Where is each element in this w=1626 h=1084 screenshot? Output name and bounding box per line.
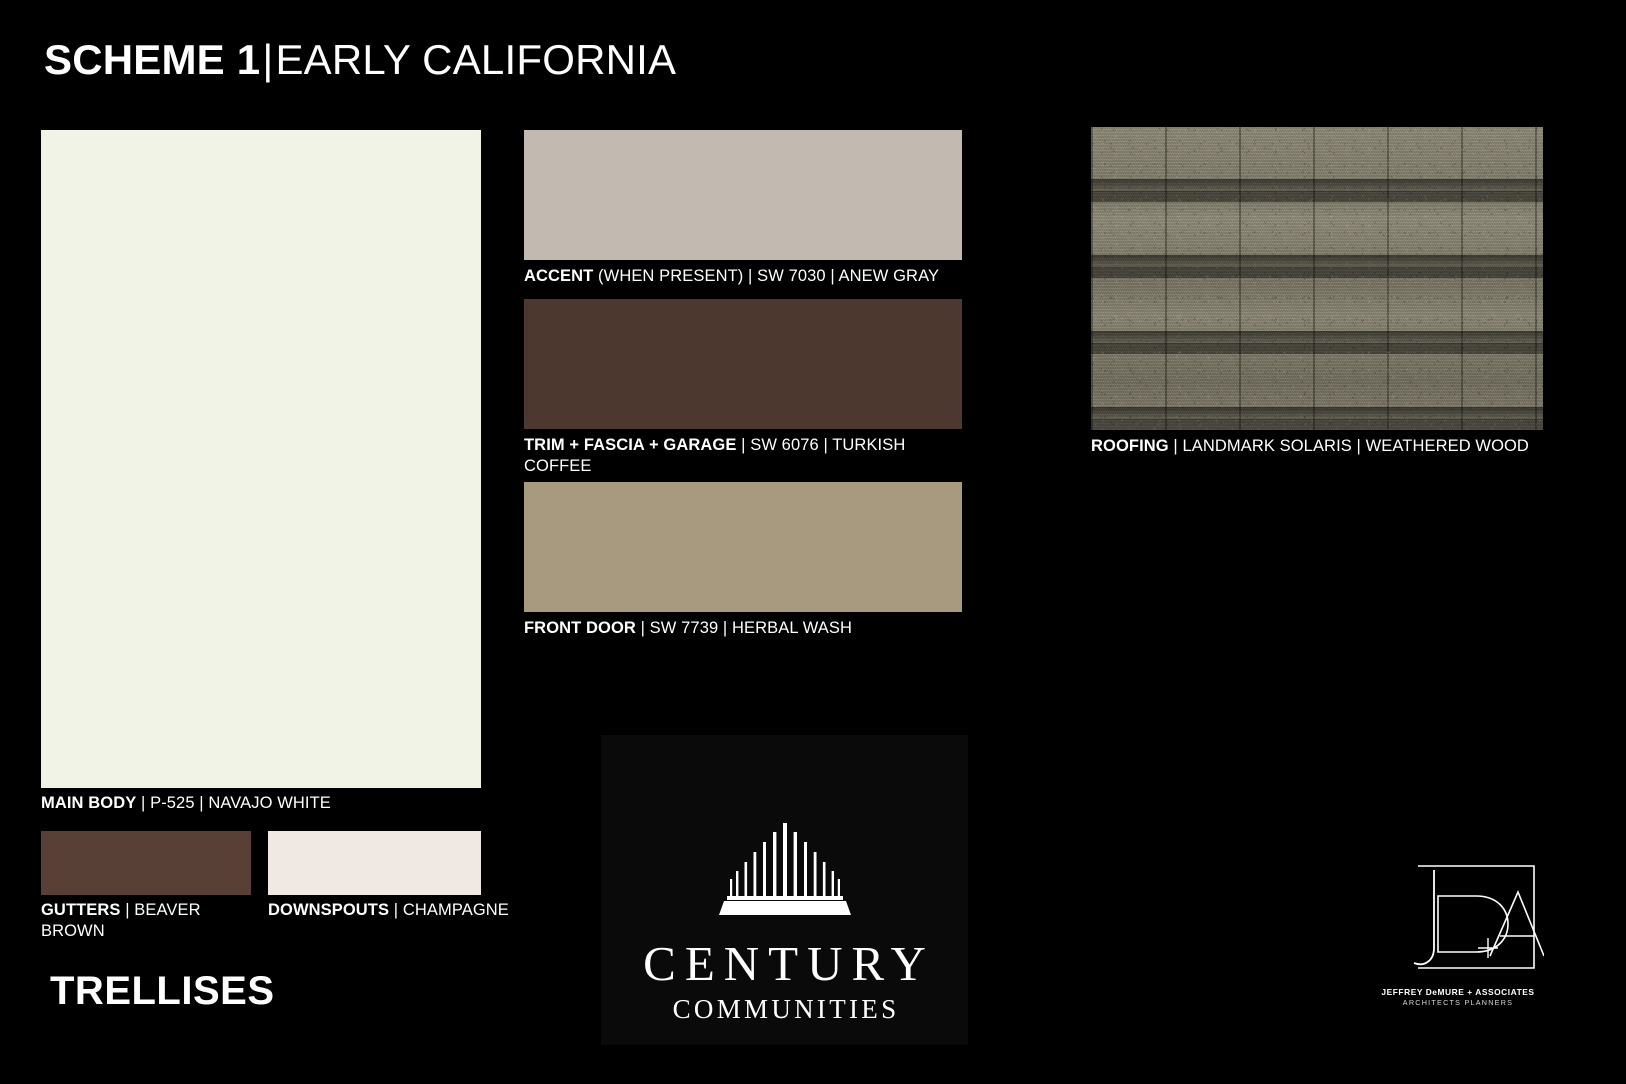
swatch-front-door: FRONT DOOR | SW 7739 | HERBAL WASH xyxy=(524,482,962,639)
roof-granule-texture xyxy=(1091,127,1543,430)
page-title-scheme: SCHEME 1 xyxy=(44,36,260,83)
swatch-chip-accent xyxy=(524,130,962,260)
swatch-trim: TRIM + FASCIA + GARAGE | SW 6076 | TURKI… xyxy=(524,299,962,477)
roof-shadow-band xyxy=(1091,331,1543,344)
swatch-chip-gutters xyxy=(41,831,251,895)
swatch-label-main-body-title: MAIN BODY xyxy=(41,794,136,812)
century-subtitle: COMMUNITIES xyxy=(670,994,900,1024)
swatch-label-roofing-title: ROOFING xyxy=(1091,437,1169,455)
swatch-chip-front-door xyxy=(524,482,962,612)
swatch-label-downspouts-title: DOWNSPOUTS xyxy=(268,901,389,919)
roof-shadow-band xyxy=(1091,407,1543,420)
swatch-label-accent: ACCENT (WHEN PRESENT) | SW 7030 | ANEW G… xyxy=(524,266,962,287)
swatch-label-main-body-detail: | P-525 | NAVAJO WHITE xyxy=(141,794,331,812)
swatch-label-gutters-title: GUTTERS xyxy=(41,901,121,919)
roof-shadow-band xyxy=(1091,179,1543,192)
swatch-roofing: ROOFING | LANDMARK SOLARIS | WEATHERED W… xyxy=(1091,127,1543,457)
swatch-label-front-door: FRONT DOOR | SW 7739 | HERBAL WASH xyxy=(524,618,962,639)
swatch-label-downspouts: DOWNSPOUTS | CHAMPAGNE xyxy=(268,900,481,921)
swatch-chip-trim xyxy=(524,299,962,429)
swatch-label-gutters: GUTTERS | BEAVER BROWN xyxy=(41,900,226,942)
jda-monogram-icon xyxy=(1372,856,1544,984)
century-pediment-icon xyxy=(700,820,870,916)
jda-firm-name: JEFFREY DeMURE + ASSOCIATES xyxy=(1372,987,1544,998)
swatch-label-main-body: MAIN BODY | P-525 | NAVAJO WHITE xyxy=(41,793,481,814)
century-wordmark: CENTURY xyxy=(634,938,935,990)
swatch-label-downspouts-detail: | CHAMPAGNE xyxy=(394,901,509,919)
jda-firm-discipline: ARCHITECTS PLANNERS xyxy=(1372,998,1544,1008)
swatch-label-front-door-detail: | SW 7739 | HERBAL WASH xyxy=(641,619,852,637)
swatch-label-roofing: ROOFING | LANDMARK SOLARIS | WEATHERED W… xyxy=(1091,436,1543,457)
jda-logo: JEFFREY DeMURE + ASSOCIATES ARCHITECTS P… xyxy=(1372,856,1544,1014)
swatch-gutters: GUTTERS | BEAVER BROWN xyxy=(41,831,251,942)
swatch-label-accent-title: ACCENT xyxy=(524,267,593,285)
page-title-name: EARLY CALIFORNIA xyxy=(275,36,676,83)
page-title: SCHEME 1|EARLY CALIFORNIA xyxy=(44,34,676,86)
roof-shadow-band xyxy=(1091,255,1543,268)
swatch-label-trim: TRIM + FASCIA + GARAGE | SW 6076 | TURKI… xyxy=(524,435,962,477)
swatch-downspouts: DOWNSPOUTS | CHAMPAGNE xyxy=(268,831,481,921)
swatch-accent: ACCENT (WHEN PRESENT) | SW 7030 | ANEW G… xyxy=(524,130,962,287)
swatch-main-body: MAIN BODY | P-525 | NAVAJO WHITE xyxy=(41,130,481,814)
swatch-label-roofing-detail: | LANDMARK SOLARIS | WEATHERED WOOD xyxy=(1173,437,1529,455)
page-title-separator: | xyxy=(260,36,275,83)
swatch-chip-main-body xyxy=(41,130,481,788)
swatch-chip-roofing xyxy=(1091,127,1543,430)
century-communities-logo: CENTURY COMMUNITIES xyxy=(601,735,968,1045)
trellises-heading: TRELLISES xyxy=(50,967,275,1015)
swatch-label-accent-detail: (WHEN PRESENT) | SW 7030 | ANEW GRAY xyxy=(598,267,939,285)
swatch-chip-downspouts xyxy=(268,831,481,895)
color-scheme-board: SCHEME 1|EARLY CALIFORNIA MAIN BODY | P-… xyxy=(0,0,1626,1084)
swatch-label-trim-title: TRIM + FASCIA + GARAGE xyxy=(524,436,736,454)
swatch-label-front-door-title: FRONT DOOR xyxy=(524,619,636,637)
